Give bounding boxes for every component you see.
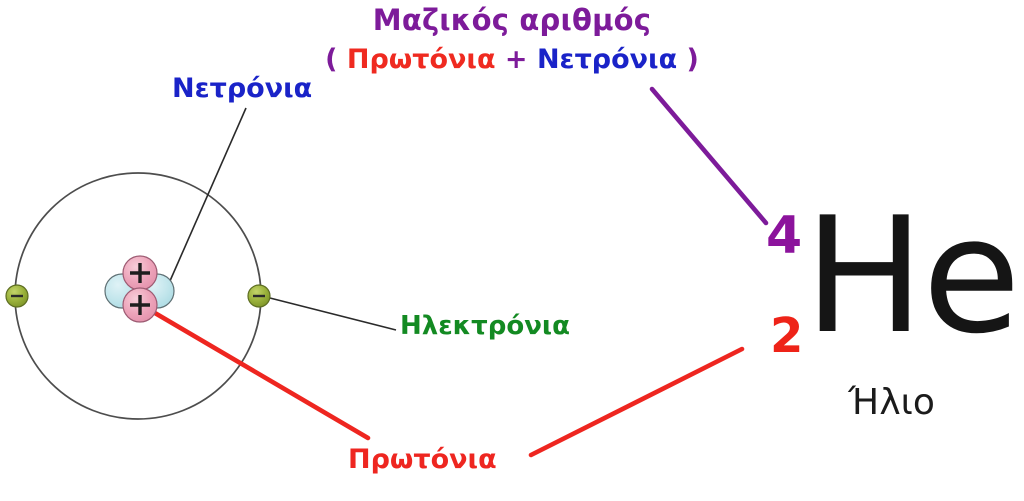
neutrons-label: Νετρόνια — [172, 75, 312, 102]
helium-atom-diagram: Μαζικός αριθμός ( Πρωτόνια + Νετρόνια ) … — [0, 0, 1024, 501]
atomic-number-leader-line — [531, 349, 742, 455]
electron-leader-line — [266, 297, 396, 330]
electrons-label: Ηλεκτρόνια — [400, 313, 570, 339]
protons-label: Πρωτόνια — [348, 446, 497, 473]
atomic-number-value: 2 — [770, 312, 803, 360]
formula-plus-operator: + — [496, 44, 537, 75]
proton-leader-line — [143, 306, 368, 438]
mass-number-value: 4 — [766, 210, 802, 262]
element-name: Ήλιο — [848, 385, 935, 421]
mass-number-leader-line — [652, 89, 766, 223]
element-symbol: He — [804, 196, 1019, 356]
formula-protons-term: Πρωτόνια — [347, 44, 496, 75]
formula-open-paren: ( — [325, 44, 347, 75]
formula-neutrons-term: Νετρόνια — [537, 44, 677, 75]
mass-number-formula: ( Πρωτόνια + Νετρόνια ) — [0, 46, 1024, 73]
formula-close-paren: ) — [677, 44, 699, 75]
neutron-leader-line — [166, 108, 246, 290]
mass-number-title: Μαζικός αριθμός — [0, 6, 1024, 35]
